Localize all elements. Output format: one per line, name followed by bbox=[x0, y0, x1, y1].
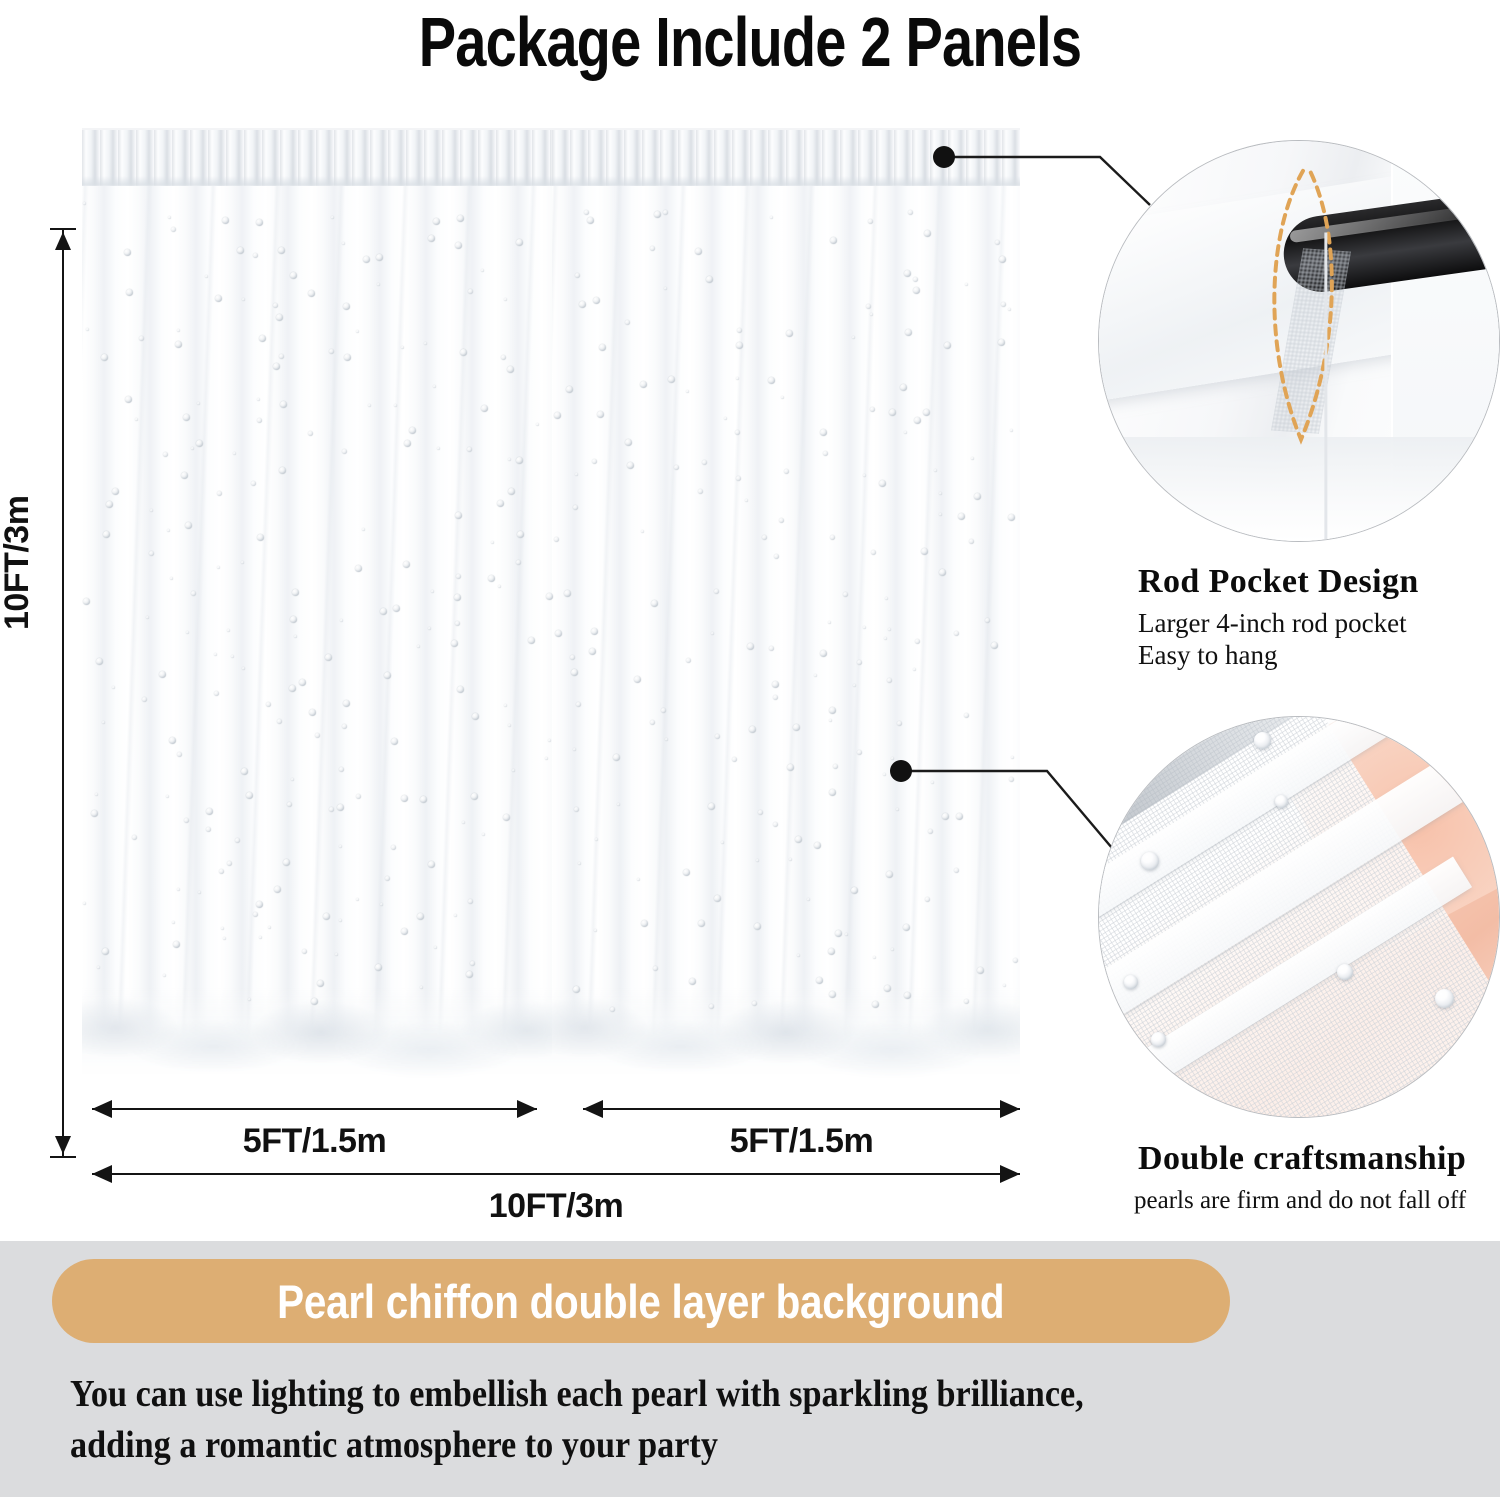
arrow-right bbox=[517, 1100, 537, 1118]
pearl bbox=[714, 895, 721, 902]
pearl bbox=[503, 814, 510, 821]
pearl bbox=[401, 795, 408, 802]
pearl bbox=[884, 985, 891, 992]
macro-pearl bbox=[1151, 1032, 1166, 1047]
banner-description: You can use lighting to embellish each p… bbox=[70, 1369, 1450, 1470]
pearl bbox=[594, 929, 597, 932]
pearl bbox=[454, 594, 461, 601]
pearl bbox=[455, 242, 462, 249]
pearl bbox=[481, 405, 488, 412]
pearl bbox=[454, 914, 457, 917]
pearl bbox=[132, 835, 137, 840]
pearl bbox=[828, 621, 831, 624]
total-width-label: 10FT/3m bbox=[92, 1187, 1020, 1226]
dim-cap-top bbox=[50, 228, 76, 230]
pearl bbox=[471, 793, 478, 800]
pearl bbox=[564, 590, 571, 597]
pearl bbox=[516, 560, 521, 565]
pearl bbox=[868, 219, 873, 224]
pearl bbox=[555, 630, 562, 637]
pearl bbox=[472, 713, 479, 720]
pearl bbox=[625, 439, 632, 446]
pearl bbox=[384, 672, 391, 679]
pearl bbox=[482, 833, 485, 836]
pearl bbox=[829, 707, 836, 714]
pearl bbox=[470, 961, 475, 966]
pearl bbox=[508, 488, 515, 495]
pearl bbox=[173, 941, 180, 948]
pearl bbox=[711, 632, 714, 635]
pearl bbox=[404, 440, 411, 447]
pearl bbox=[545, 757, 548, 760]
pearl bbox=[793, 724, 800, 731]
pearl bbox=[724, 417, 727, 420]
pearl bbox=[417, 913, 424, 920]
pearl bbox=[985, 618, 990, 623]
pearl bbox=[335, 953, 338, 956]
pearl bbox=[698, 489, 703, 494]
panel-body-right bbox=[552, 186, 1020, 1078]
pearl bbox=[342, 242, 345, 245]
pearl bbox=[787, 764, 794, 771]
pearl bbox=[508, 458, 511, 461]
pearl bbox=[163, 452, 168, 457]
pearl bbox=[342, 724, 347, 729]
pearl bbox=[833, 764, 838, 769]
pearl bbox=[237, 247, 244, 254]
pearl bbox=[845, 933, 848, 936]
pearl bbox=[863, 626, 866, 629]
pearl bbox=[363, 256, 370, 263]
panel-body-left bbox=[82, 186, 560, 1078]
dim-arrow-up bbox=[55, 232, 71, 250]
pearl bbox=[256, 901, 263, 908]
pearl bbox=[183, 414, 190, 421]
pearl bbox=[308, 431, 313, 436]
pearl bbox=[573, 748, 576, 751]
pearl bbox=[736, 377, 739, 380]
pearl bbox=[340, 619, 343, 622]
pearl bbox=[401, 928, 408, 935]
pearl bbox=[999, 256, 1006, 263]
pearl bbox=[991, 642, 998, 649]
pearl bbox=[135, 418, 138, 421]
pearl bbox=[329, 807, 334, 812]
pearl bbox=[735, 430, 740, 435]
pearl bbox=[774, 554, 779, 559]
pearl bbox=[428, 627, 431, 630]
pearl bbox=[517, 531, 524, 538]
pearl bbox=[613, 754, 620, 761]
pearl bbox=[191, 591, 196, 596]
dim-cap-bottom bbox=[50, 1156, 76, 1158]
pearl bbox=[455, 621, 460, 626]
pearl bbox=[242, 298, 245, 301]
pearl bbox=[958, 513, 965, 520]
pearl bbox=[554, 412, 561, 419]
pearl bbox=[924, 230, 931, 237]
pearl bbox=[754, 923, 761, 930]
pearl bbox=[573, 986, 580, 993]
banner-description-line2: adding a romantic atmosphere to your par… bbox=[70, 1420, 1312, 1471]
feature-1-heading: Rod Pocket Design bbox=[1138, 563, 1419, 601]
pearl bbox=[889, 409, 896, 416]
pearl bbox=[745, 499, 748, 502]
pearl bbox=[797, 954, 800, 957]
pearl bbox=[391, 738, 398, 745]
pearl bbox=[273, 363, 280, 370]
pearl bbox=[231, 655, 234, 658]
pearl bbox=[97, 966, 100, 969]
pearl bbox=[814, 674, 817, 677]
pearl bbox=[242, 667, 245, 670]
pearl bbox=[362, 528, 365, 531]
pearl bbox=[181, 472, 188, 479]
pearl bbox=[103, 531, 110, 538]
curtain-panels bbox=[82, 128, 1020, 1078]
pearl bbox=[574, 807, 579, 812]
pearl bbox=[124, 249, 131, 256]
pearl bbox=[579, 301, 586, 308]
pearl bbox=[768, 377, 775, 384]
pearl bbox=[289, 685, 296, 692]
pearl bbox=[575, 473, 578, 476]
pearl bbox=[1008, 514, 1015, 521]
pearl bbox=[491, 541, 494, 544]
pearl bbox=[913, 287, 920, 294]
macro-pearl bbox=[1141, 852, 1159, 870]
macro-pearl bbox=[1254, 732, 1271, 749]
pearl bbox=[257, 534, 264, 541]
pearl bbox=[394, 404, 397, 407]
pearl bbox=[650, 246, 655, 251]
pearl bbox=[913, 668, 916, 671]
pearl bbox=[634, 676, 641, 683]
pearl bbox=[227, 861, 232, 866]
pearl bbox=[931, 781, 934, 784]
pearl bbox=[283, 859, 290, 866]
pearl bbox=[257, 418, 262, 423]
pearl bbox=[175, 341, 182, 348]
pearl bbox=[942, 813, 949, 820]
pearl bbox=[829, 719, 832, 722]
pearl bbox=[706, 276, 713, 283]
macro-pearl bbox=[1124, 975, 1138, 989]
arrow-left bbox=[583, 1100, 603, 1118]
pearl bbox=[455, 512, 462, 519]
pearl bbox=[965, 283, 968, 286]
curtain-panel-right bbox=[552, 128, 1020, 1078]
highlight-pill: Pearl chiffon double layer background bbox=[52, 1259, 1230, 1343]
pearl bbox=[885, 597, 888, 600]
pearl bbox=[773, 695, 778, 700]
feature-2-heading: Double craftsmanship bbox=[1138, 1140, 1466, 1178]
pearl bbox=[467, 447, 472, 452]
pearl bbox=[302, 949, 307, 954]
total-width-line bbox=[92, 1173, 1020, 1175]
pearl bbox=[548, 739, 551, 742]
curtain-panel-left bbox=[82, 128, 560, 1078]
pearl bbox=[891, 757, 894, 760]
pearl bbox=[566, 386, 573, 393]
pearl bbox=[828, 948, 835, 955]
pearl bbox=[905, 329, 912, 336]
pearl bbox=[266, 702, 271, 707]
pearl bbox=[934, 469, 937, 472]
pearl bbox=[928, 829, 933, 834]
pearl bbox=[191, 447, 194, 450]
pearl bbox=[851, 887, 858, 894]
pearl bbox=[870, 313, 873, 316]
pearl bbox=[508, 724, 511, 727]
pearl bbox=[939, 492, 942, 495]
pearl bbox=[654, 211, 661, 218]
arrow-right bbox=[1000, 1165, 1020, 1183]
pearl bbox=[829, 991, 836, 998]
pearl bbox=[339, 845, 342, 848]
feature-1-line2: Easy to hang bbox=[1138, 640, 1277, 671]
pearl bbox=[665, 738, 668, 741]
curtain-scene: 10FT/3m 5FT/1.5m 5FT/1.5m bbox=[0, 100, 1080, 1230]
pearl bbox=[457, 686, 464, 693]
pearl bbox=[843, 592, 848, 597]
callout-marker-rod-pocket bbox=[933, 146, 955, 168]
pearl bbox=[251, 481, 256, 486]
pearl bbox=[273, 303, 278, 308]
pearl bbox=[939, 569, 946, 576]
banner-description-line1: You can use lighting to embellish each p… bbox=[70, 1369, 1312, 1420]
pearl bbox=[866, 304, 871, 309]
pearl bbox=[91, 810, 98, 817]
pearl bbox=[857, 660, 862, 665]
pearl bbox=[339, 919, 342, 922]
pearl bbox=[714, 589, 719, 594]
pearl bbox=[998, 339, 1005, 346]
pearl bbox=[650, 720, 655, 725]
pearl bbox=[591, 628, 598, 635]
pearl bbox=[291, 778, 294, 781]
craftsmanship-detail-image bbox=[1098, 716, 1500, 1118]
pearl bbox=[914, 417, 921, 424]
pearl bbox=[589, 648, 596, 655]
pearl bbox=[317, 980, 324, 987]
dim-arrow-down bbox=[55, 1136, 71, 1154]
pearl bbox=[125, 396, 132, 403]
page-title: Package Include 2 Panels bbox=[150, 2, 1350, 82]
pearl bbox=[736, 342, 743, 349]
arrow-left bbox=[92, 1100, 112, 1118]
pearl bbox=[627, 462, 634, 469]
macro-pearl bbox=[1275, 795, 1288, 808]
pearl bbox=[497, 500, 504, 507]
pearl bbox=[641, 530, 644, 533]
pearl bbox=[248, 998, 251, 1001]
pearl bbox=[466, 971, 473, 978]
pearl bbox=[1003, 984, 1006, 987]
pearl bbox=[884, 637, 887, 640]
pearl bbox=[420, 796, 427, 803]
pearl bbox=[501, 355, 506, 360]
height-dimension-label: 10FT/3m bbox=[0, 496, 37, 630]
macro-pearl bbox=[1337, 964, 1353, 980]
pearl bbox=[686, 390, 689, 393]
arrow-left bbox=[92, 1165, 112, 1183]
pearl bbox=[368, 404, 371, 407]
panel-hem-left bbox=[82, 986, 560, 1078]
pearl bbox=[974, 493, 981, 500]
pearl bbox=[380, 608, 387, 615]
highlight-pill-text: Pearl chiffon double layer background bbox=[277, 1274, 1004, 1329]
pearl bbox=[290, 616, 297, 623]
pearl bbox=[872, 1001, 879, 1008]
pearl bbox=[215, 295, 222, 302]
pearl bbox=[904, 431, 907, 434]
pearl bbox=[355, 565, 362, 572]
pearl bbox=[376, 254, 383, 261]
pearl bbox=[820, 650, 827, 657]
pearl bbox=[752, 1001, 757, 1006]
pearl bbox=[1011, 756, 1014, 759]
pearl bbox=[339, 767, 344, 772]
pearl bbox=[781, 396, 784, 399]
pearl bbox=[222, 217, 229, 224]
macro-pearl bbox=[1435, 989, 1454, 1008]
pearl bbox=[235, 838, 240, 843]
pearl bbox=[159, 671, 166, 678]
pearl bbox=[434, 946, 437, 949]
pearl bbox=[457, 215, 464, 222]
pearl bbox=[299, 679, 306, 686]
pearl bbox=[640, 381, 647, 388]
pearl bbox=[576, 702, 581, 707]
pearl bbox=[433, 385, 436, 388]
pearl bbox=[795, 836, 802, 843]
right-panel-width-label: 5FT/1.5m bbox=[583, 1122, 1020, 1161]
pearl bbox=[756, 859, 759, 862]
pearl bbox=[570, 655, 575, 660]
pearl bbox=[786, 330, 793, 337]
arrow-right bbox=[1000, 1100, 1020, 1118]
pearl bbox=[186, 631, 189, 634]
pearl bbox=[428, 235, 435, 242]
pearl bbox=[1008, 308, 1011, 311]
pearl bbox=[460, 349, 467, 356]
pearl bbox=[146, 616, 149, 619]
pearl bbox=[769, 646, 774, 651]
pearl bbox=[732, 757, 737, 762]
pearl bbox=[150, 509, 153, 512]
pearl bbox=[309, 709, 316, 716]
right-panel-width-line bbox=[583, 1108, 1020, 1110]
rod-pocket-detail-image bbox=[1098, 140, 1500, 542]
pearl bbox=[488, 575, 495, 582]
rod-pocket-outline bbox=[1099, 141, 1499, 541]
pearl bbox=[956, 813, 963, 820]
bottom-banner: Pearl chiffon double layer background Yo… bbox=[0, 1241, 1500, 1497]
pearl bbox=[287, 802, 292, 807]
pearl bbox=[747, 643, 754, 650]
left-panel-width-label: 5FT/1.5m bbox=[92, 1122, 537, 1161]
pearl bbox=[323, 913, 330, 920]
callout-marker-pearls bbox=[890, 760, 912, 782]
pearl bbox=[356, 330, 359, 333]
pearl bbox=[900, 384, 907, 391]
pearl bbox=[896, 808, 899, 811]
pearl bbox=[409, 427, 416, 434]
pearl bbox=[171, 227, 176, 232]
pearl bbox=[331, 216, 334, 219]
pearl bbox=[816, 977, 823, 984]
pearl bbox=[177, 329, 180, 332]
pearl bbox=[762, 535, 767, 540]
pearl bbox=[206, 808, 213, 815]
rod-pocket-left bbox=[82, 128, 560, 190]
pearl bbox=[311, 998, 318, 1005]
pearl bbox=[683, 869, 690, 876]
height-dimension-line bbox=[62, 228, 64, 1158]
pearl bbox=[401, 346, 404, 349]
pearl bbox=[308, 290, 315, 297]
pearl bbox=[715, 734, 720, 739]
left-panel-width-line bbox=[92, 1108, 537, 1110]
pearl bbox=[661, 708, 666, 713]
pearl bbox=[964, 713, 969, 718]
pearl bbox=[217, 566, 220, 569]
pearl bbox=[177, 888, 180, 891]
pearl bbox=[770, 216, 773, 219]
pearl bbox=[214, 653, 217, 656]
pearl bbox=[904, 992, 911, 999]
pearl bbox=[375, 964, 382, 971]
pearl bbox=[573, 505, 578, 510]
pearl bbox=[290, 272, 297, 279]
pearl bbox=[1001, 302, 1006, 307]
pearl bbox=[708, 803, 715, 810]
pearl bbox=[897, 721, 902, 726]
panel-hem-right bbox=[552, 986, 1020, 1078]
infographic-page: Package Include 2 Panels 10FT/3m bbox=[0, 0, 1500, 1497]
pearl bbox=[528, 637, 535, 644]
pearl bbox=[278, 247, 285, 254]
feature-2-line1: pearls are firm and do not fall off bbox=[1134, 1186, 1466, 1215]
pearl bbox=[592, 459, 597, 464]
pearl bbox=[83, 598, 90, 605]
pearl bbox=[504, 298, 507, 301]
pearl bbox=[1013, 958, 1018, 963]
pearl bbox=[772, 681, 779, 688]
pearl bbox=[256, 219, 263, 226]
pearl bbox=[915, 639, 920, 644]
pearl bbox=[462, 821, 465, 824]
pearl bbox=[424, 342, 427, 345]
feature-1-line1: Larger 4-inch rod pocket bbox=[1138, 608, 1407, 639]
pearl bbox=[343, 303, 350, 310]
pearl bbox=[610, 1007, 615, 1012]
pearl bbox=[172, 921, 175, 924]
pearl bbox=[651, 600, 658, 607]
pearl bbox=[481, 269, 484, 272]
